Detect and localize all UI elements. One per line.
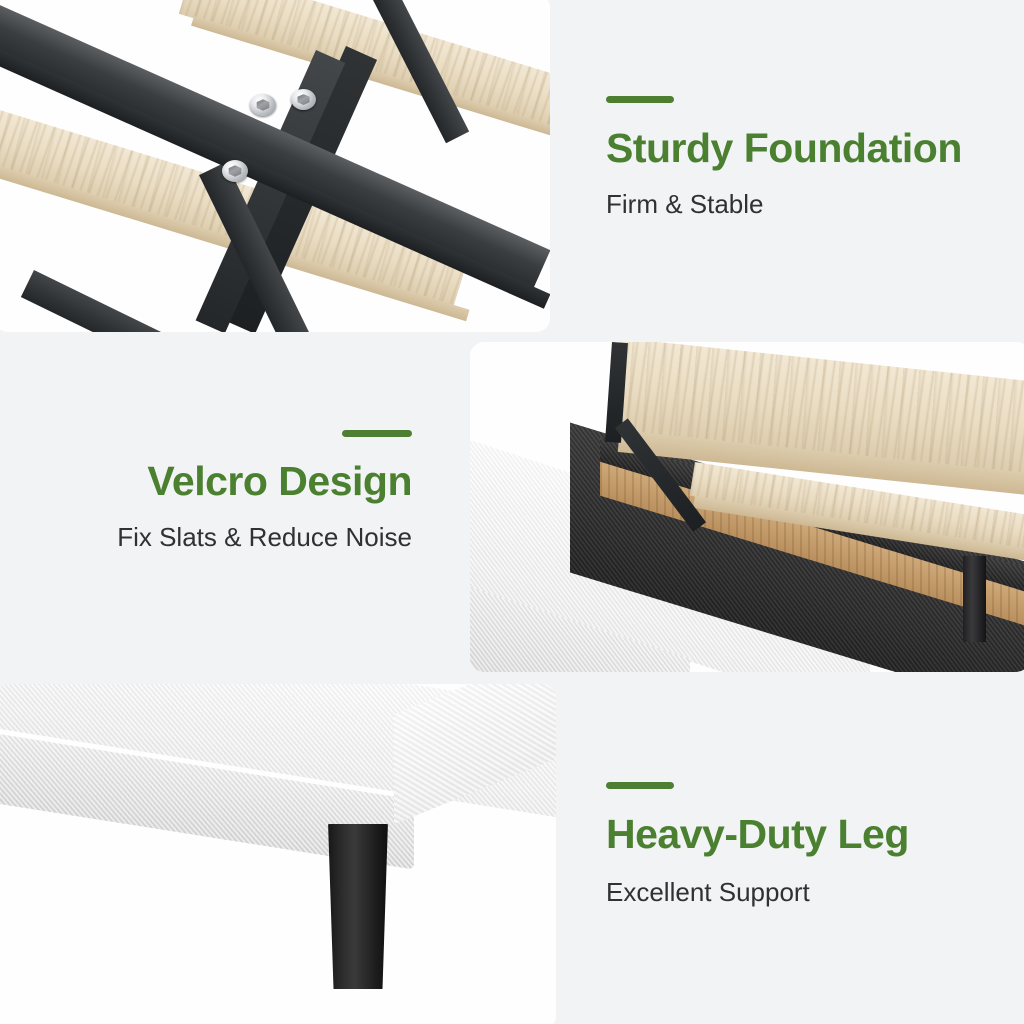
infographic-canvas: Sturdy Foundation Firm & Stable Velcro D… bbox=[0, 0, 1024, 1024]
photo-bed-leg bbox=[0, 684, 556, 1024]
bed-leg-scene bbox=[0, 684, 556, 1024]
photo-velcro-slats bbox=[470, 342, 1024, 672]
feature-block-sturdy-foundation: Sturdy Foundation Firm & Stable bbox=[606, 96, 1006, 219]
hex-bolt-2 bbox=[291, 89, 316, 110]
feature-title: Heavy-Duty Leg bbox=[606, 813, 1006, 856]
velcro-slats-scene bbox=[470, 342, 1024, 672]
feature-title: Sturdy Foundation bbox=[606, 127, 1006, 170]
photo-metal-frame-joint bbox=[0, 0, 550, 332]
feature-subtitle: Firm & Stable bbox=[606, 190, 1006, 219]
feature-title: Velcro Design bbox=[20, 460, 412, 503]
steel-leg-bottom-left bbox=[21, 270, 205, 332]
feature-subtitle: Excellent Support bbox=[606, 878, 1006, 907]
accent-dash-icon bbox=[342, 430, 412, 437]
metal-frame-scene bbox=[0, 0, 550, 332]
feature-block-heavy-duty-leg: Heavy-Duty Leg Excellent Support bbox=[606, 782, 1006, 907]
accent-dash-icon bbox=[606, 782, 674, 789]
bed-leg bbox=[324, 824, 392, 989]
feature-subtitle: Fix Slats & Reduce Noise bbox=[20, 523, 412, 552]
accent-dash-icon bbox=[606, 96, 674, 103]
hex-bolt-3 bbox=[222, 160, 248, 182]
frame-leg-right bbox=[963, 556, 986, 642]
feature-block-velcro-design: Velcro Design Fix Slats & Reduce Noise bbox=[20, 430, 412, 552]
hex-bolt-1 bbox=[250, 94, 276, 116]
